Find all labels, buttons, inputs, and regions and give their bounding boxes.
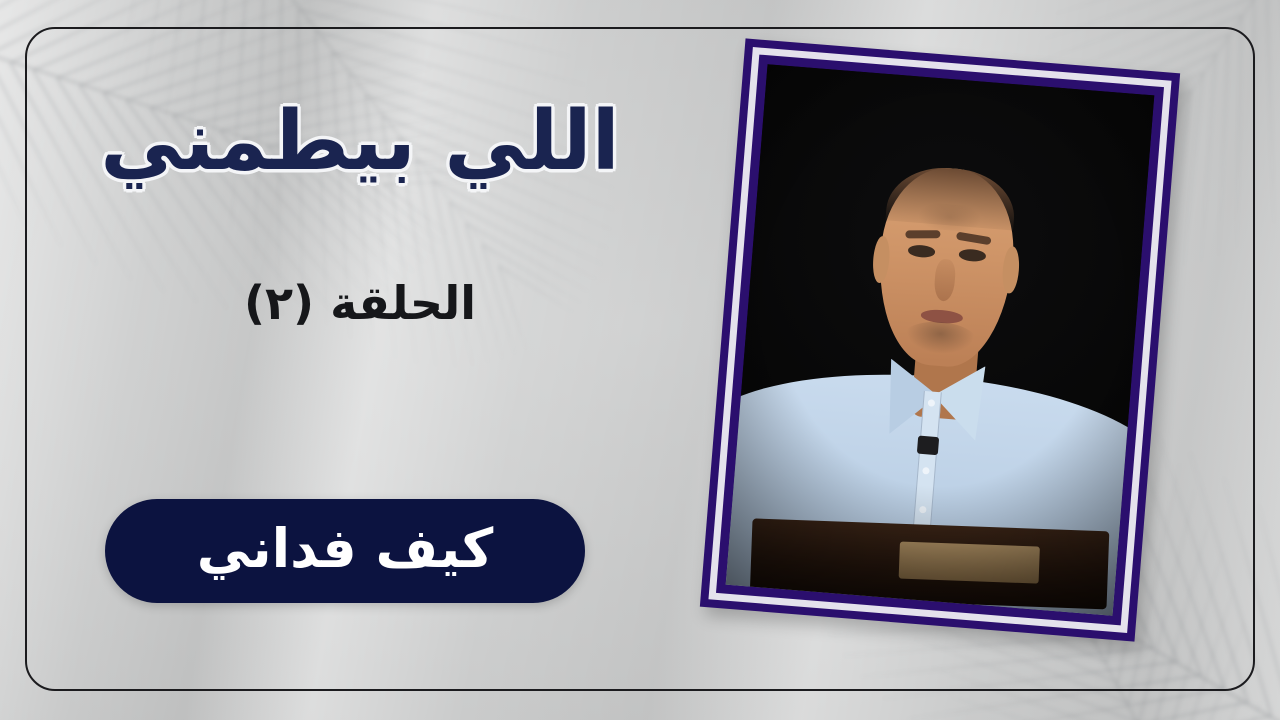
photo-frame-inner-border: [716, 55, 1164, 626]
photo-frame-middle-band: [708, 47, 1171, 633]
page-title: اللي بيطمني: [100, 100, 620, 184]
photo-frame: [700, 38, 1180, 641]
cta-button-label: كيف فداني: [197, 522, 494, 576]
speaker-portrait-photo: [726, 64, 1155, 615]
cta-button[interactable]: كيف فداني: [105, 499, 585, 603]
episode-label: الحلقة (٢): [100, 276, 620, 330]
thumbnail-canvas: اللي بيطمني الحلقة (٢) كيف فداني: [0, 0, 1280, 720]
